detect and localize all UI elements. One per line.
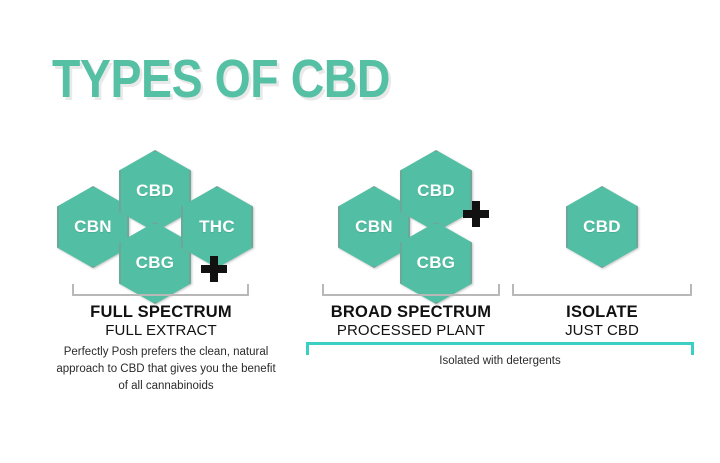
isolated-with-detergents-note: Isolated with detergents [306, 355, 694, 367]
hex-label: CBN [355, 217, 393, 237]
hex-label: CBD [136, 181, 174, 201]
caption-subtitle: JUST CBD [502, 322, 702, 340]
bracket-broad-spectrum [322, 284, 500, 296]
hex-label: THC [199, 217, 235, 237]
caption-isolate: ISOLATE JUST CBD [502, 303, 702, 340]
hex-label: CBN [74, 217, 112, 237]
caption-broad-spectrum: BROAD SPECTRUM PROCESSED PLANT [311, 303, 511, 340]
plus-icon-broad-spectrum [463, 201, 489, 227]
page-title: TYPES OF CBD [52, 52, 390, 106]
caption-full-spectrum: FULL SPECTRUM FULL EXTRACT [50, 303, 272, 340]
bracket-isolate [512, 284, 692, 296]
full-spectrum-note: Perfectly Posh prefers the clean, natura… [50, 344, 282, 395]
caption-subtitle: PROCESSED PLANT [311, 322, 511, 340]
caption-title: BROAD SPECTRUM [311, 303, 511, 322]
hex-label: CBD [417, 181, 455, 201]
hex-label: CBG [417, 253, 456, 273]
caption-title: FULL SPECTRUM [50, 303, 272, 322]
bracket-full-spectrum [72, 284, 249, 296]
caption-subtitle: FULL EXTRACT [50, 322, 272, 340]
hex-label: CBG [136, 253, 175, 273]
plus-icon-full-spectrum [201, 256, 227, 282]
hex-label: CBD [583, 217, 621, 237]
caption-title: ISOLATE [502, 303, 702, 322]
teal-bracket-isolated [306, 342, 694, 355]
